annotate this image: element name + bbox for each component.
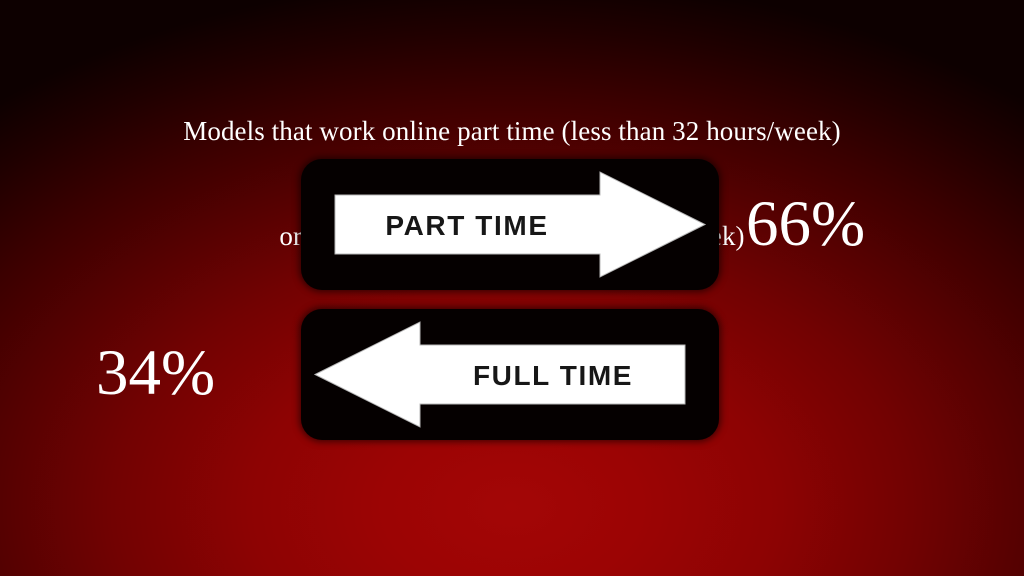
part-time-label: PART TIME (385, 210, 548, 241)
slide-canvas: Models that work online part time (less … (0, 0, 1024, 576)
part-time-sign: PART TIME (301, 159, 719, 290)
left-arrow-icon: FULL TIME (301, 309, 719, 440)
full-time-percent: 34% (96, 341, 215, 406)
part-time-percent: 66% (746, 192, 865, 257)
full-time-label: FULL TIME (473, 360, 633, 391)
full-time-sign: FULL TIME (301, 309, 719, 440)
title-line-1: Models that work online part time (less … (0, 114, 1024, 149)
right-arrow-icon: PART TIME (301, 159, 719, 290)
